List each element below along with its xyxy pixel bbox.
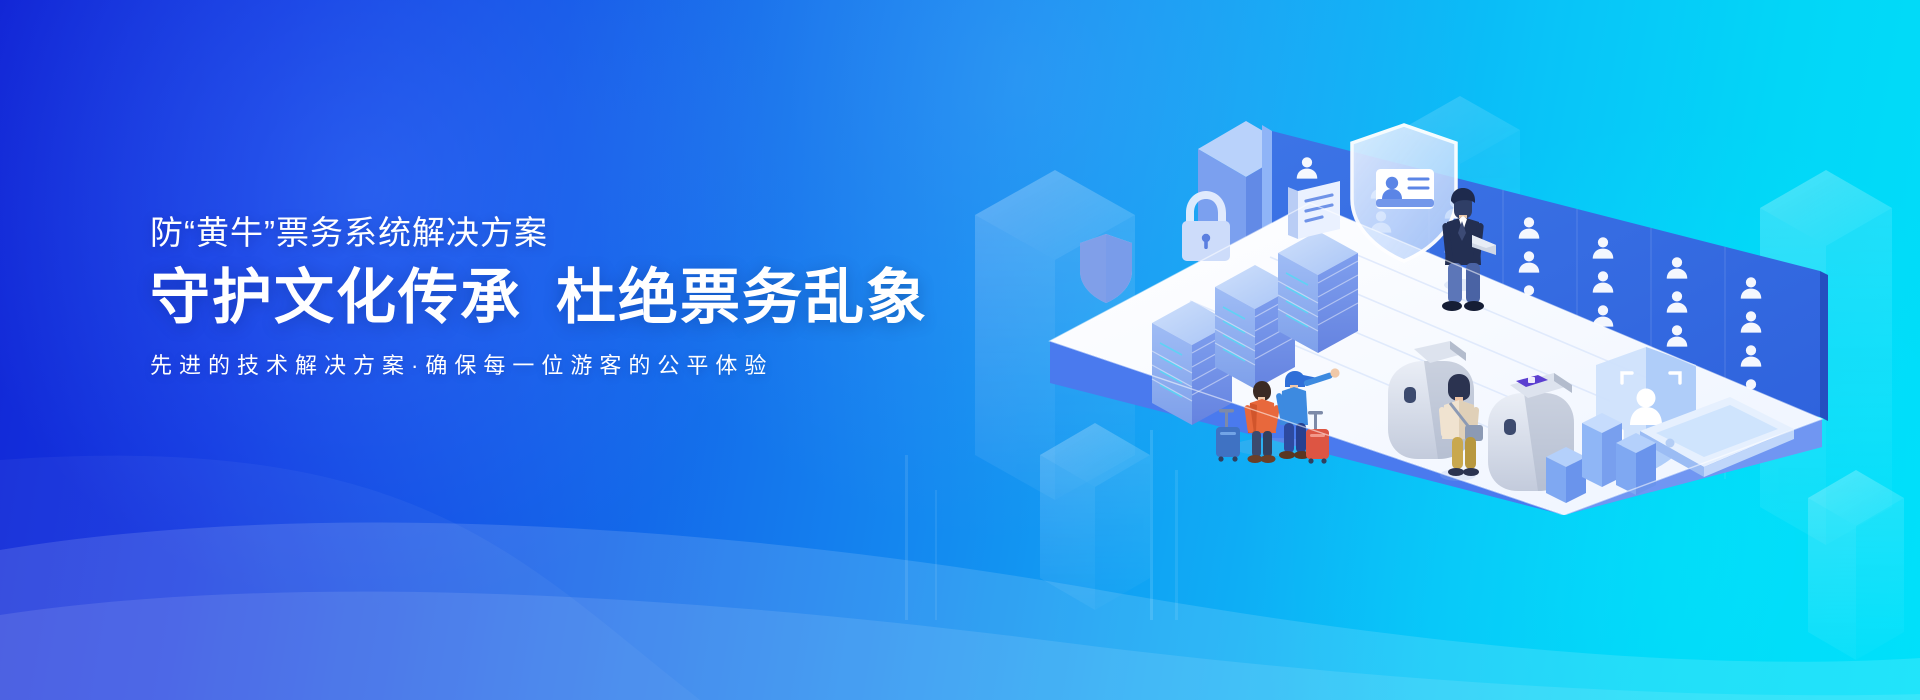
tagline-text: 先进的技术解决方案·确保每一位游客的公平体验 (150, 352, 910, 381)
hero-banner: 防“黄牛”票务系统解决方案 守护文化传承杜绝票务乱象 先进的技术解决方案·确保每… (0, 0, 1920, 700)
page-title: 守护文化传承杜绝票务乱象 (150, 263, 910, 334)
eyebrow-text: 防“黄牛”票务系统解决方案 (150, 212, 910, 253)
bar-chart-bar (1616, 433, 1656, 495)
server-rack (1278, 231, 1358, 353)
shield-icon (1080, 234, 1132, 303)
headline-part-2: 杜绝票务乱象 (556, 264, 928, 331)
hero-illustration (1010, 95, 1920, 515)
bar-chart-bar (1546, 447, 1586, 503)
headline-part-1: 守护文化传承 (150, 264, 522, 331)
hero-copy: 防“黄牛”票务系统解决方案 守护文化传承杜绝票务乱象 先进的技术解决方案·确保每… (150, 212, 910, 381)
